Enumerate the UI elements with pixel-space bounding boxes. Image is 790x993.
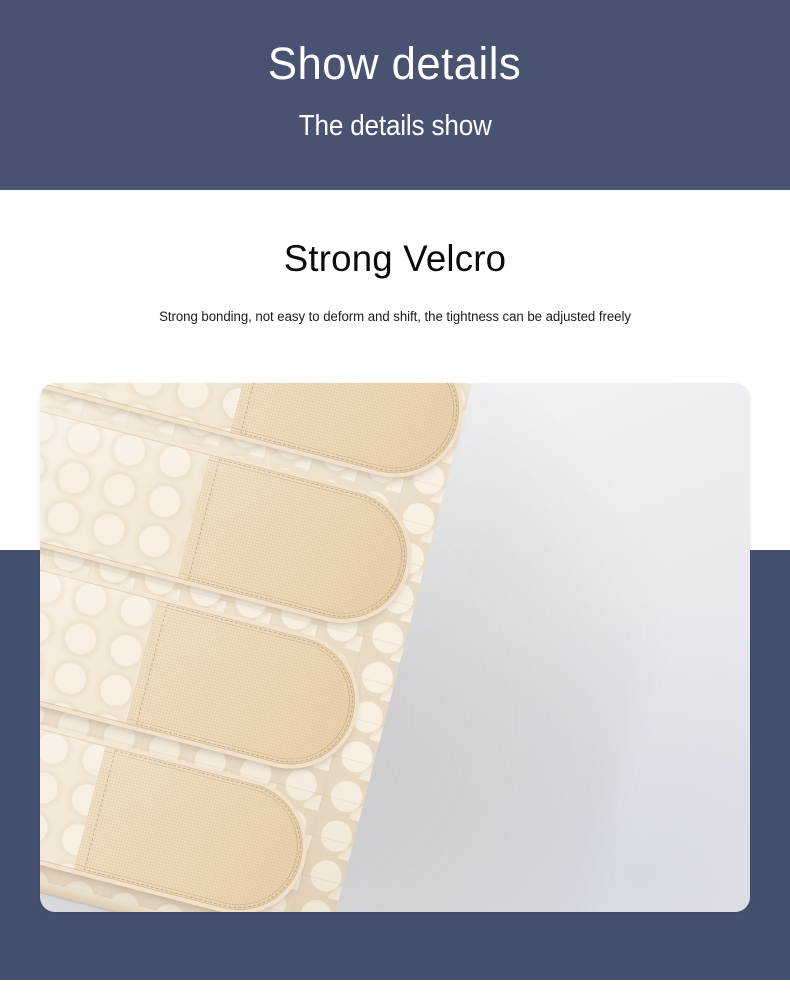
product-detail-page: Show details The details show Strong Vel…: [0, 0, 790, 993]
feature-description: Strong bonding, not easy to deform and s…: [8, 310, 782, 324]
footer-spacer: [0, 980, 790, 993]
product-photo-card[interactable]: [40, 383, 750, 912]
product-photo: [40, 383, 750, 912]
banner-title: Show details: [268, 41, 521, 86]
page-banner: Show details The details show: [0, 0, 790, 190]
banner-subtitle: The details show: [299, 112, 492, 141]
feature-title: Strong Velcro: [4, 240, 786, 277]
